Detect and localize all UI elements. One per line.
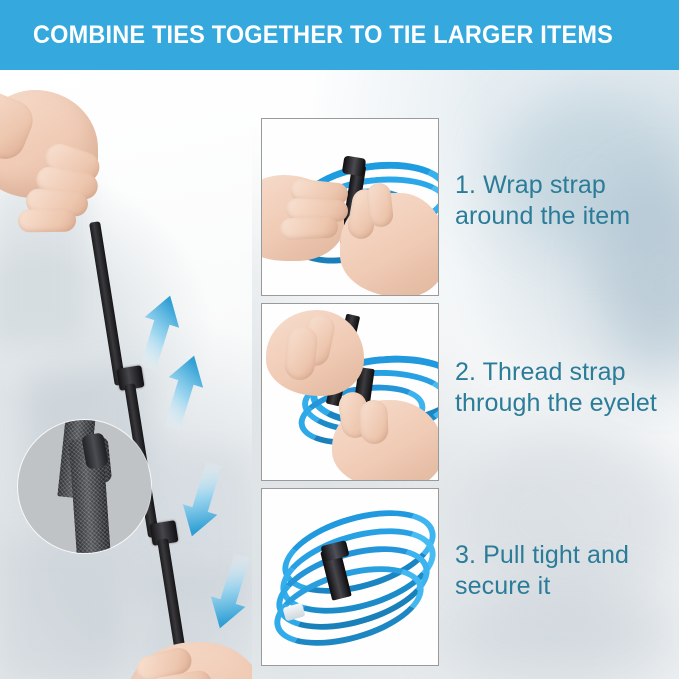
step-1-photo-content bbox=[262, 119, 438, 295]
step-1-photo bbox=[261, 118, 439, 296]
step-3-caption-line2: secure it bbox=[455, 571, 629, 602]
step-2-photo bbox=[261, 303, 439, 481]
black-strap-buckle bbox=[342, 155, 367, 176]
hero-image bbox=[0, 70, 252, 679]
instruction-poster: COMBINE TIES TOGETHER TO TIE LARGER ITEM… bbox=[0, 0, 679, 679]
blur-shape-floor bbox=[0, 540, 120, 679]
step-2-caption-line2: through the eyelet bbox=[455, 388, 657, 419]
left-hand-finger-3 bbox=[279, 215, 338, 240]
upper-hand-ring-finger bbox=[18, 208, 76, 232]
step-3-photo-content bbox=[262, 489, 438, 665]
step-2-caption: 2. Thread strap through the eyelet bbox=[455, 357, 657, 419]
step-3-photo bbox=[261, 488, 439, 666]
step-1-caption-line2: around the item bbox=[455, 201, 630, 232]
step-2-photo-content bbox=[262, 304, 438, 480]
header-banner: COMBINE TIES TOGETHER TO TIE LARGER ITEM… bbox=[0, 0, 679, 70]
step-2-caption-line1: 2. Thread strap bbox=[455, 357, 657, 388]
step-1-caption-line1: 1. Wrap strap bbox=[455, 170, 630, 201]
page-title: COMBINE TIES TOGETHER TO TIE LARGER ITEM… bbox=[33, 21, 613, 50]
step-3-caption: 3. Pull tight and secure it bbox=[455, 540, 629, 602]
step-1-caption: 1. Wrap strap around the item bbox=[455, 170, 630, 232]
lower-hand-finger-2 bbox=[359, 400, 389, 445]
strap-eyelet-closeup bbox=[18, 420, 151, 553]
step-3-caption-line1: 3. Pull tight and bbox=[455, 540, 629, 571]
